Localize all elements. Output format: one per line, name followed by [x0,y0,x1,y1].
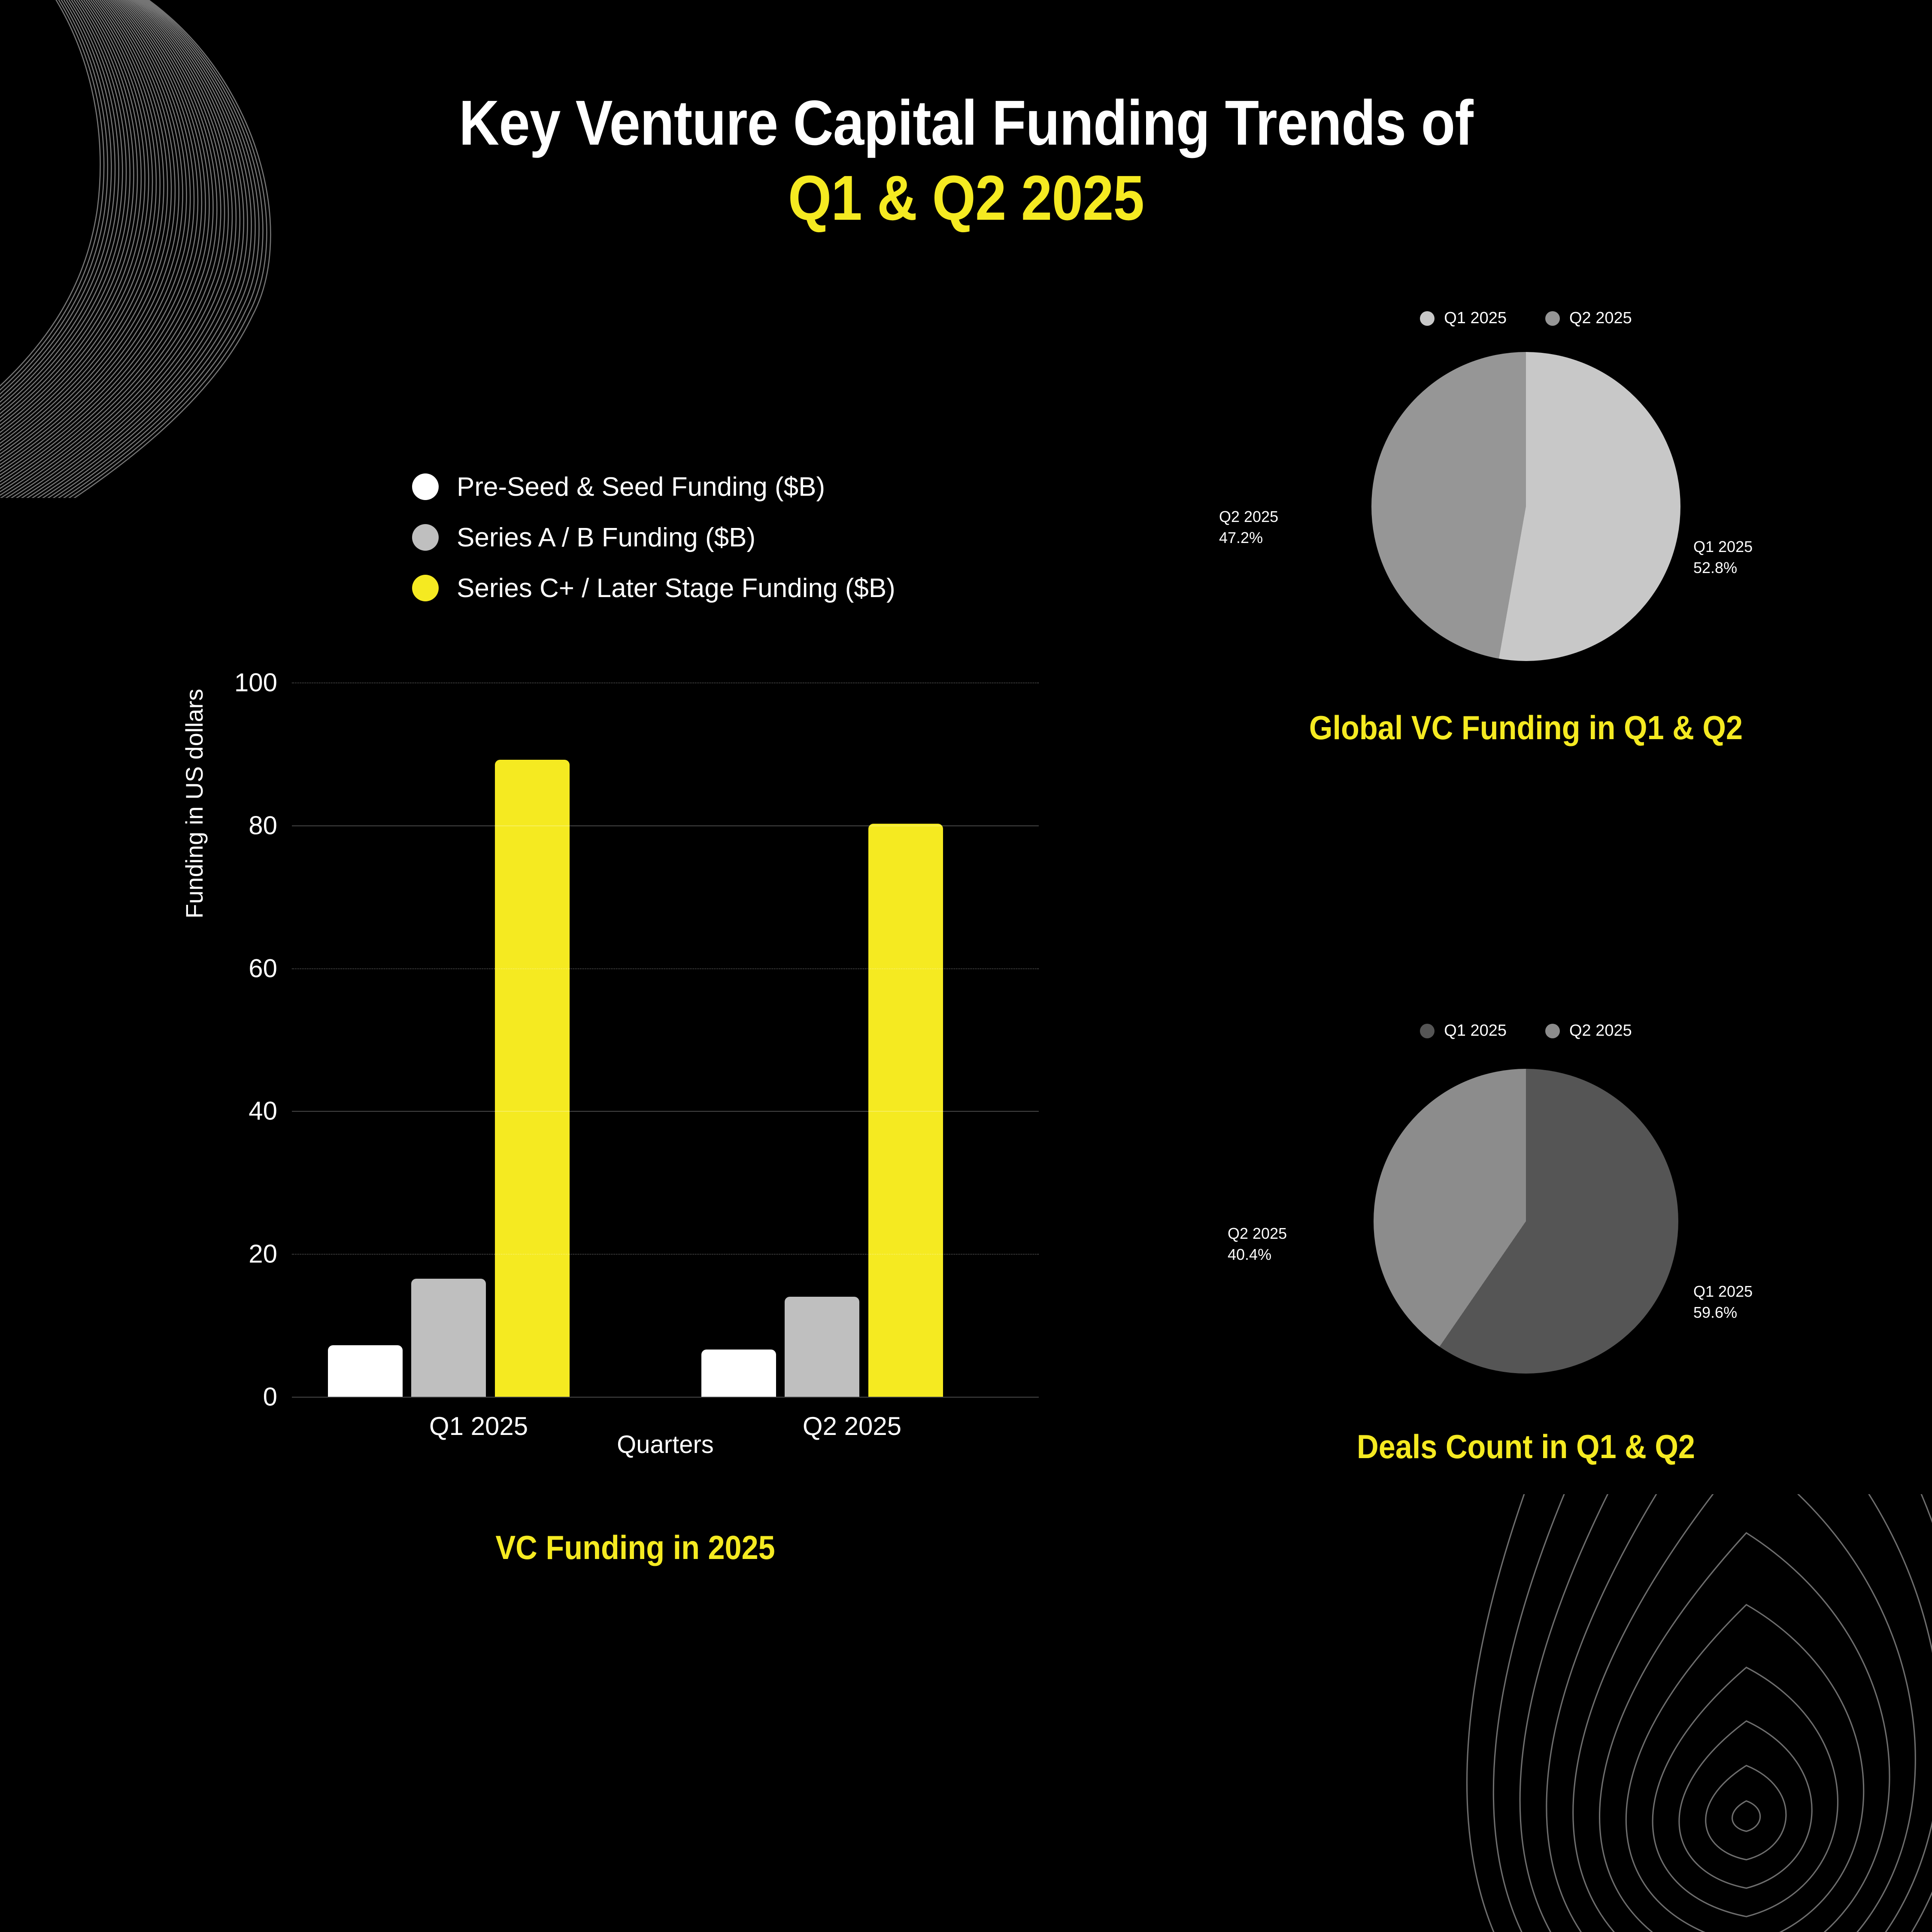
bar-chart-x-axis-label: Quarters [292,1430,1039,1459]
bar-chart-y-tick-label: 0 [263,1382,277,1412]
bar-chart-group: Q1 2025 [292,661,665,1397]
bar-chart-bar [495,760,570,1397]
pie-bottom-callout-q2-pct: 40.4% [1228,1244,1287,1265]
pie-bottom-legend-label-q1: Q1 2025 [1444,1022,1507,1040]
legend-swatch-circle-icon [1420,1024,1435,1038]
pie-bottom-legend-label-q2: Q2 2025 [1569,1022,1632,1040]
bar-chart-y-tick-label: 80 [249,810,277,840]
pie-top-callout-q1-name: Q1 2025 [1693,538,1753,555]
pie-top-callout-q2: Q2 2025 47.2% [1219,507,1278,548]
legend-label-preseed: Pre-Seed & Seed Funding ($B) [457,472,825,502]
bar-chart-caption: VC Funding in 2025 [230,1528,1041,1567]
pie-top-callout-q1: Q1 2025 52.8% [1693,537,1753,578]
bar-chart-bars: Q1 2025Q2 2025 [292,661,1039,1397]
legend-label-series-ab: Series A / B Funding ($B) [457,522,755,553]
pie-bottom-callout-q1-name: Q1 2025 [1693,1283,1753,1300]
topographic-decoration-bottom-right [1451,1494,1932,1932]
bar-chart-bar [785,1297,859,1397]
pie-top-callout-q1-pct: 52.8% [1693,558,1753,579]
series-legend: Pre-Seed & Seed Funding ($B) Series A / … [412,461,895,613]
bar-chart-gridline [292,1111,1039,1112]
bar-chart-gridline [292,825,1039,826]
legend-swatch-circle-icon [412,575,439,601]
pie-bottom-callout-q1: Q1 2025 59.6% [1693,1281,1753,1323]
bar-chart-y-tick-label: 60 [249,953,277,983]
page-title: Key Venture Capital Funding Trends of Q1… [0,86,1932,236]
pie-bottom-callout-q2: Q2 2025 40.4% [1228,1223,1287,1265]
legend-item-preseed: Pre-Seed & Seed Funding ($B) [412,461,895,512]
legend-item-series-c: Series C+ / Later Stage Funding ($B) [412,563,895,613]
pie-top-legend-label-q2: Q2 2025 [1569,309,1632,328]
bar-chart: Funding in US dollars Q1 2025Q2 2025 020… [185,635,1086,1477]
pie-bottom-disc [1374,1069,1678,1374]
bar-chart-group: Q2 2025 [665,661,1039,1397]
bar-chart-y-axis-label: Funding in US dollars [180,689,208,919]
pie-top-callout-q2-name: Q2 2025 [1219,508,1278,525]
pie-top-legend-item-q2: Q2 2025 [1545,309,1632,328]
bar-chart-gridline [292,682,1039,683]
bar-chart-bar [411,1279,486,1397]
pie-top-callout-q2-pct: 47.2% [1219,528,1278,549]
legend-swatch-circle-icon [1420,311,1435,326]
legend-swatch-circle-icon [1545,1024,1560,1038]
bar-chart-y-tick-label: 20 [249,1239,277,1269]
infographic-canvas: Key Venture Capital Funding Trends of Q1… [0,0,1932,1932]
bar-chart-plot-area: Q1 2025Q2 2025 020406080100 [292,661,1039,1397]
pie-top-legend: Q1 2025 Q2 2025 [1215,309,1837,328]
bar-chart-y-tick-label: 40 [249,1096,277,1126]
pie-bottom-callout-q2-name: Q2 2025 [1228,1225,1287,1242]
pie-bottom-legend-item-q1: Q1 2025 [1420,1022,1507,1040]
bar-chart-gridline [292,968,1039,969]
bar-chart-gridline [292,1397,1039,1398]
legend-swatch-circle-icon [1545,311,1560,326]
page-title-line-1: Key Venture Capital Funding Trends of [116,86,1816,161]
pie-bottom-callout-q1-pct: 59.6% [1693,1302,1753,1323]
bar-chart-gridline [292,1254,1039,1255]
pie-bottom-caption: Deals Count in Q1 & Q2 [1246,1427,1806,1466]
pie-chart-global-funding: Q1 2025 Q2 2025 Q2 2025 47.2% Q1 2025 52… [1215,309,1837,764]
legend-item-series-ab: Series A / B Funding ($B) [412,512,895,563]
topographic-decoration-top-left [0,0,464,498]
legend-swatch-circle-icon [412,473,439,500]
pie-chart-deals-count: Q1 2025 Q2 2025 Q2 2025 40.4% Q1 2025 59… [1215,1022,1837,1485]
pie-bottom-legend-item-q2: Q2 2025 [1545,1022,1632,1040]
bar-chart-bar [328,1345,403,1397]
bar-chart-y-tick-label: 100 [234,667,277,697]
pie-top-caption: Global VC Funding in Q1 & Q2 [1246,708,1806,747]
pie-top-disc [1371,352,1680,661]
legend-label-series-c: Series C+ / Later Stage Funding ($B) [457,573,895,604]
legend-swatch-circle-icon [412,524,439,551]
pie-top-legend-label-q1: Q1 2025 [1444,309,1507,328]
bar-chart-bar [868,824,943,1397]
page-title-line-2: Q1 & Q2 2025 [116,161,1816,236]
pie-top-legend-item-q1: Q1 2025 [1420,309,1507,328]
bar-chart-bar [701,1350,776,1397]
pie-bottom-legend: Q1 2025 Q2 2025 [1215,1022,1837,1040]
